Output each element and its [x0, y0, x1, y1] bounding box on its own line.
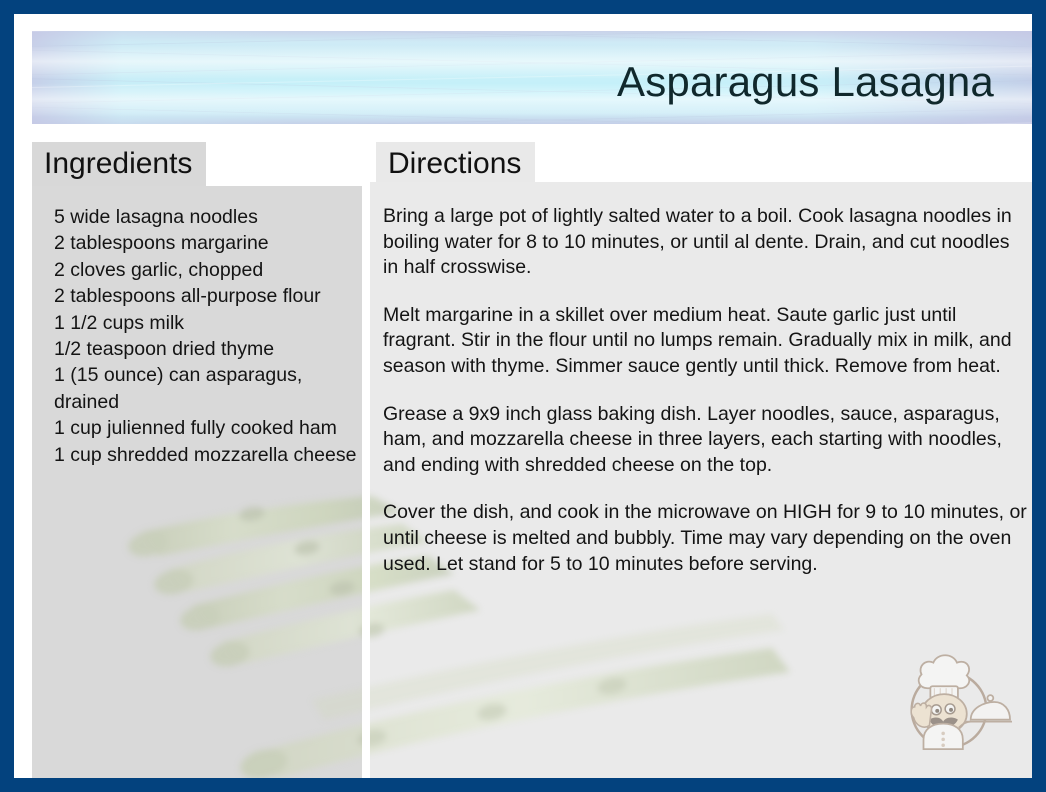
list-item: 5 wide lasagna noodles — [54, 204, 364, 230]
list-item: 1 cup julienned fully cooked ham — [54, 415, 364, 441]
recipe-card-slide: Asparagus Lasagna Ingredients Directions — [0, 0, 1046, 792]
header-banner: Asparagus Lasagna — [32, 31, 1032, 124]
direction-step: Bring a large pot of lightly salted wate… — [383, 204, 1028, 281]
directions-steps: Bring a large pot of lightly salted wate… — [383, 204, 1028, 577]
list-item: 1/2 teaspoon dried thyme — [54, 336, 364, 362]
page-title: Asparagus Lasagna — [617, 61, 994, 103]
list-item: 1 cup shredded mozzarella cheese — [54, 442, 364, 468]
list-item: 1 (15 ounce) can asparagus, drained — [54, 362, 364, 415]
direction-step: Melt margarine in a skillet over medium … — [383, 303, 1028, 380]
chef-mascot-logo — [894, 644, 1012, 756]
list-item: 2 cloves garlic, chopped — [54, 257, 364, 283]
direction-step: Grease a 9x9 inch glass baking dish. Lay… — [383, 402, 1028, 479]
list-item: 2 tablespoons margarine — [54, 230, 364, 256]
list-item: 2 tablespoons all-purpose flour — [54, 283, 364, 309]
ingredients-list: 5 wide lasagna noodles 2 tablespoons mar… — [54, 204, 364, 468]
direction-step: Cover the dish, and cook in the microwav… — [383, 500, 1028, 577]
section-heading-directions: Directions — [376, 142, 535, 186]
section-heading-ingredients: Ingredients — [32, 142, 206, 186]
list-item: 1 1/2 cups milk — [54, 310, 364, 336]
